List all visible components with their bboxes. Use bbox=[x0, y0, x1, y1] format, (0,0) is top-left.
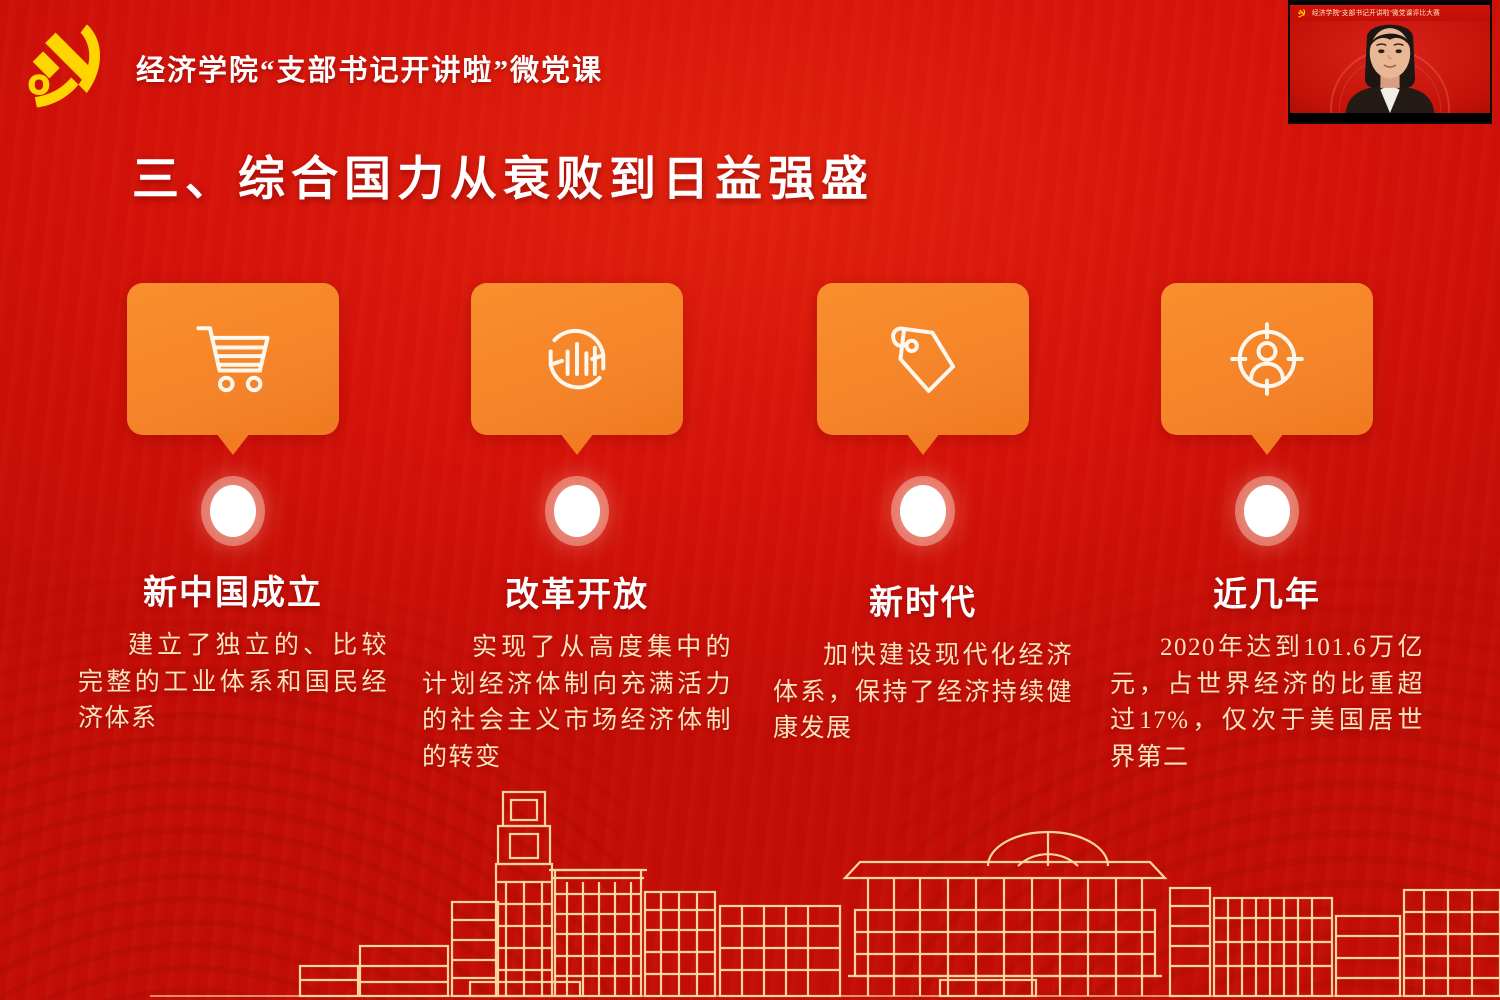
user-target-icon bbox=[1220, 312, 1314, 406]
timeline-node-dot-1 bbox=[210, 485, 256, 537]
webcam-letterbox-bar bbox=[1290, 113, 1490, 122]
page-header-title: 经济学院“支部书记开讲啦”微党课 bbox=[136, 47, 603, 89]
timeline-body-1: 建立了独立的、比较完整的工业体系和国民经济体系 bbox=[78, 628, 388, 738]
timeline-item-2: 改革开放 实现了从高度集中的计划经济体制向充满活力的社会主义市场经济体制的转变 bbox=[412, 283, 742, 776]
timeline-body-3: 加快建设现代化经济体系，保持了经济持续健康发展 bbox=[773, 638, 1073, 748]
timeline-body-2: 实现了从高度集中的计划经济体制向充满活力的社会主义市场经济体制的转变 bbox=[422, 630, 732, 776]
presentation-slide: 经济学院“支部书记开讲啦”微党课 三、综合国力从衰败到日益强盛 bbox=[0, 0, 1500, 1000]
timeline-node-dot-3 bbox=[900, 485, 946, 537]
icon-card-2 bbox=[471, 283, 683, 435]
presenter-figure bbox=[1290, 5, 1490, 113]
hammer-and-sickle-icon bbox=[14, 16, 118, 120]
webcam-banner: 经济学院“支部书记开讲啦”微党课评比大赛 bbox=[1290, 5, 1490, 21]
timeline-item-4: 近几年 2020年达到101.6万亿元，占世界经济的比重超过17%，仅次于美国居… bbox=[1102, 283, 1432, 776]
timeline-heading-2: 改革开放 bbox=[412, 567, 742, 616]
icon-card-1 bbox=[127, 283, 339, 435]
icon-card-3 bbox=[817, 283, 1029, 435]
presenter-video-overlay[interactable]: 经济学院“支部书记开讲啦”微党课评比大赛 bbox=[1288, 0, 1492, 124]
timeline-heading-3: 新时代 bbox=[758, 575, 1088, 624]
timeline-node-dot-2 bbox=[554, 485, 600, 537]
presenter-video-frame: 经济学院“支部书记开讲啦”微党课评比大赛 bbox=[1290, 5, 1490, 113]
timeline-heading-1: 新中国成立 bbox=[68, 565, 398, 614]
hammer-and-sickle-icon bbox=[1296, 8, 1307, 19]
timeline-node-dot-4 bbox=[1244, 485, 1290, 537]
webcam-banner-text: 经济学院“支部书记开讲啦”微党课评比大赛 bbox=[1312, 8, 1440, 18]
icon-card-4 bbox=[1161, 283, 1373, 435]
timeline-body-4: 2020年达到101.6万亿元，占世界经济的比重超过17%，仅次于美国居世界第二 bbox=[1110, 630, 1424, 776]
refresh-bar-chart-icon bbox=[530, 312, 624, 406]
price-tag-icon bbox=[876, 312, 970, 406]
shopping-cart-icon bbox=[185, 311, 281, 407]
timeline-item-1: 新中国成立 建立了独立的、比较完整的工业体系和国民经济体系 bbox=[68, 283, 398, 738]
timeline-heading-4: 近几年 bbox=[1102, 567, 1432, 616]
timeline-item-3: 新时代 加快建设现代化经济体系，保持了经济持续健康发展 bbox=[758, 283, 1088, 748]
page-title: 三、综合国力从衰败到日益强盛 bbox=[132, 140, 874, 209]
timeline-columns: 新中国成立 建立了独立的、比较完整的工业体系和国民经济体系 bbox=[0, 283, 1500, 803]
